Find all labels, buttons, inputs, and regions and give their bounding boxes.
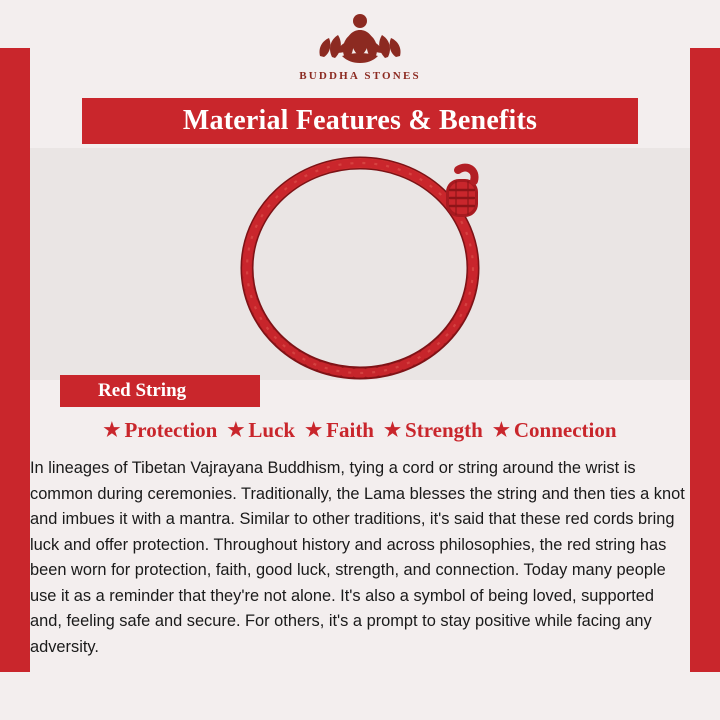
lotus-meditating-figure-icon (312, 10, 408, 68)
benefit-keywords: ★ Protection ★ Luck ★ Faith ★ Strength ★… (30, 418, 690, 443)
corner-notch-bottom-right (690, 672, 720, 720)
keyword-item: ★ Luck (217, 418, 295, 443)
keyword-item: ★ Protection (103, 418, 217, 443)
product-label-tab: Red String (60, 375, 260, 407)
corner-notch-bottom-left (0, 672, 30, 720)
corner-notch-top-right (690, 0, 720, 48)
brand-logo: BUDDHA STONES (30, 10, 690, 82)
star-icon: ★ (384, 419, 401, 442)
star-icon: ★ (493, 419, 510, 442)
page-title-banner: Material Features & Benefits (82, 98, 638, 144)
keyword-label: Protection (124, 418, 217, 443)
star-icon: ★ (103, 419, 120, 442)
product-label: Red String (98, 380, 186, 402)
infographic-page: BUDDHA STONES Material Features & Benefi… (0, 0, 720, 720)
product-image-panel (30, 148, 690, 380)
keyword-label: Faith (326, 418, 374, 443)
description-text: In lineages of Tibetan Vajrayana Buddhis… (30, 456, 700, 660)
keyword-label: Connection (514, 418, 617, 443)
keyword-item: ★ Strength (374, 418, 483, 443)
left-red-bar (0, 0, 30, 720)
content-area: BUDDHA STONES Material Features & Benefi… (30, 0, 690, 720)
keyword-label: Strength (405, 418, 483, 443)
star-icon: ★ (305, 419, 322, 442)
star-icon: ★ (227, 419, 244, 442)
corner-notch-top-left (0, 0, 30, 48)
keyword-label: Luck (248, 418, 295, 443)
page-title: Material Features & Benefits (183, 105, 537, 137)
red-string-bracelet-illustration (30, 148, 690, 380)
keyword-item: ★ Connection (483, 418, 617, 443)
keyword-item: ★ Faith (295, 418, 374, 443)
brand-name: BUDDHA STONES (30, 70, 690, 82)
